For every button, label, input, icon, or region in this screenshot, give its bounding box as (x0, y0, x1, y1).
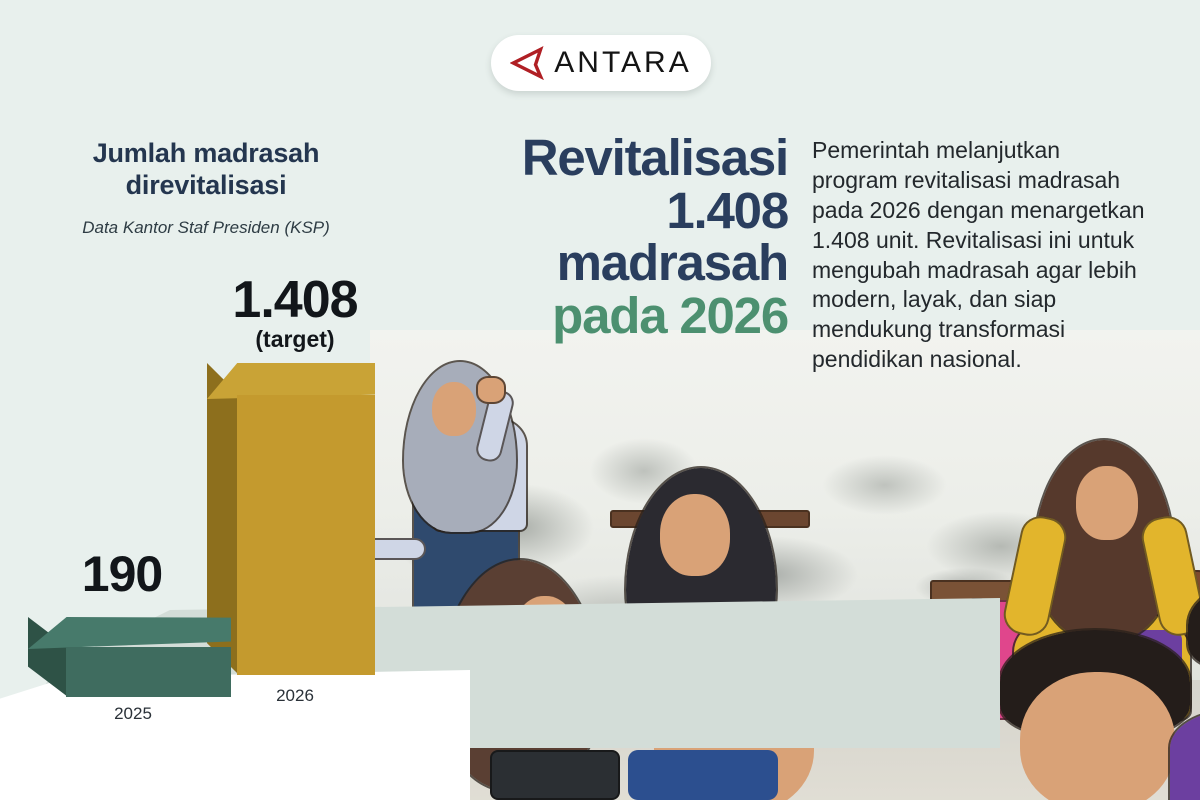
boy-purple-uniform (1170, 710, 1200, 800)
student-face (660, 494, 730, 576)
headline-line-4: pada 2026 (416, 290, 788, 343)
bar-2026-top (207, 363, 375, 399)
teacher-hand-raised (476, 376, 506, 404)
body-paragraph: Pemerintah melanjutkan program revitalis… (812, 136, 1152, 375)
axis-label-2025: 2025 (78, 704, 188, 724)
bar-2025-top (28, 617, 231, 651)
chart-title: Jumlah madrasah direvitalisasi (56, 138, 356, 201)
antara-triangle-icon (510, 46, 544, 80)
boy-hair (1188, 580, 1200, 670)
teacher-face (432, 382, 476, 436)
page-title: Revitalisasi 1.408 madrasah pada 2026 (416, 132, 788, 342)
bar-2026-front (237, 395, 375, 675)
bar-value-2026: 1.408 (215, 270, 375, 330)
boy-face (1020, 672, 1175, 800)
headline-line-1: Revitalisasi (416, 132, 788, 185)
antara-wordmark: ANTARA (554, 46, 691, 80)
chart-source-note: Data Kantor Staf Presiden (KSP) (36, 218, 376, 238)
bar-annotation-2026: (target) (215, 326, 375, 353)
student-boy-purple-shirt (1170, 580, 1200, 800)
device-on-desk (490, 750, 620, 800)
bar-chart: Jumlah madrasah direvitalisasi Data Kant… (0, 0, 400, 800)
bar-2025-front (66, 647, 231, 697)
infographic-canvas: Jumlah madrasah direvitalisasi Data Kant… (0, 0, 1200, 800)
headline-line-2: 1.408 (416, 185, 788, 238)
bar-2025 (28, 617, 231, 697)
antara-logo[interactable]: ANTARA (491, 35, 711, 91)
blue-bag-front (628, 750, 778, 800)
axis-label-2026: 2026 (240, 686, 350, 706)
student-face (1076, 466, 1138, 540)
headline-line-3: madrasah (416, 237, 788, 290)
bar-2026 (207, 363, 375, 675)
bar-value-2025: 190 (62, 545, 182, 603)
student-boy-front-right (990, 630, 1200, 800)
